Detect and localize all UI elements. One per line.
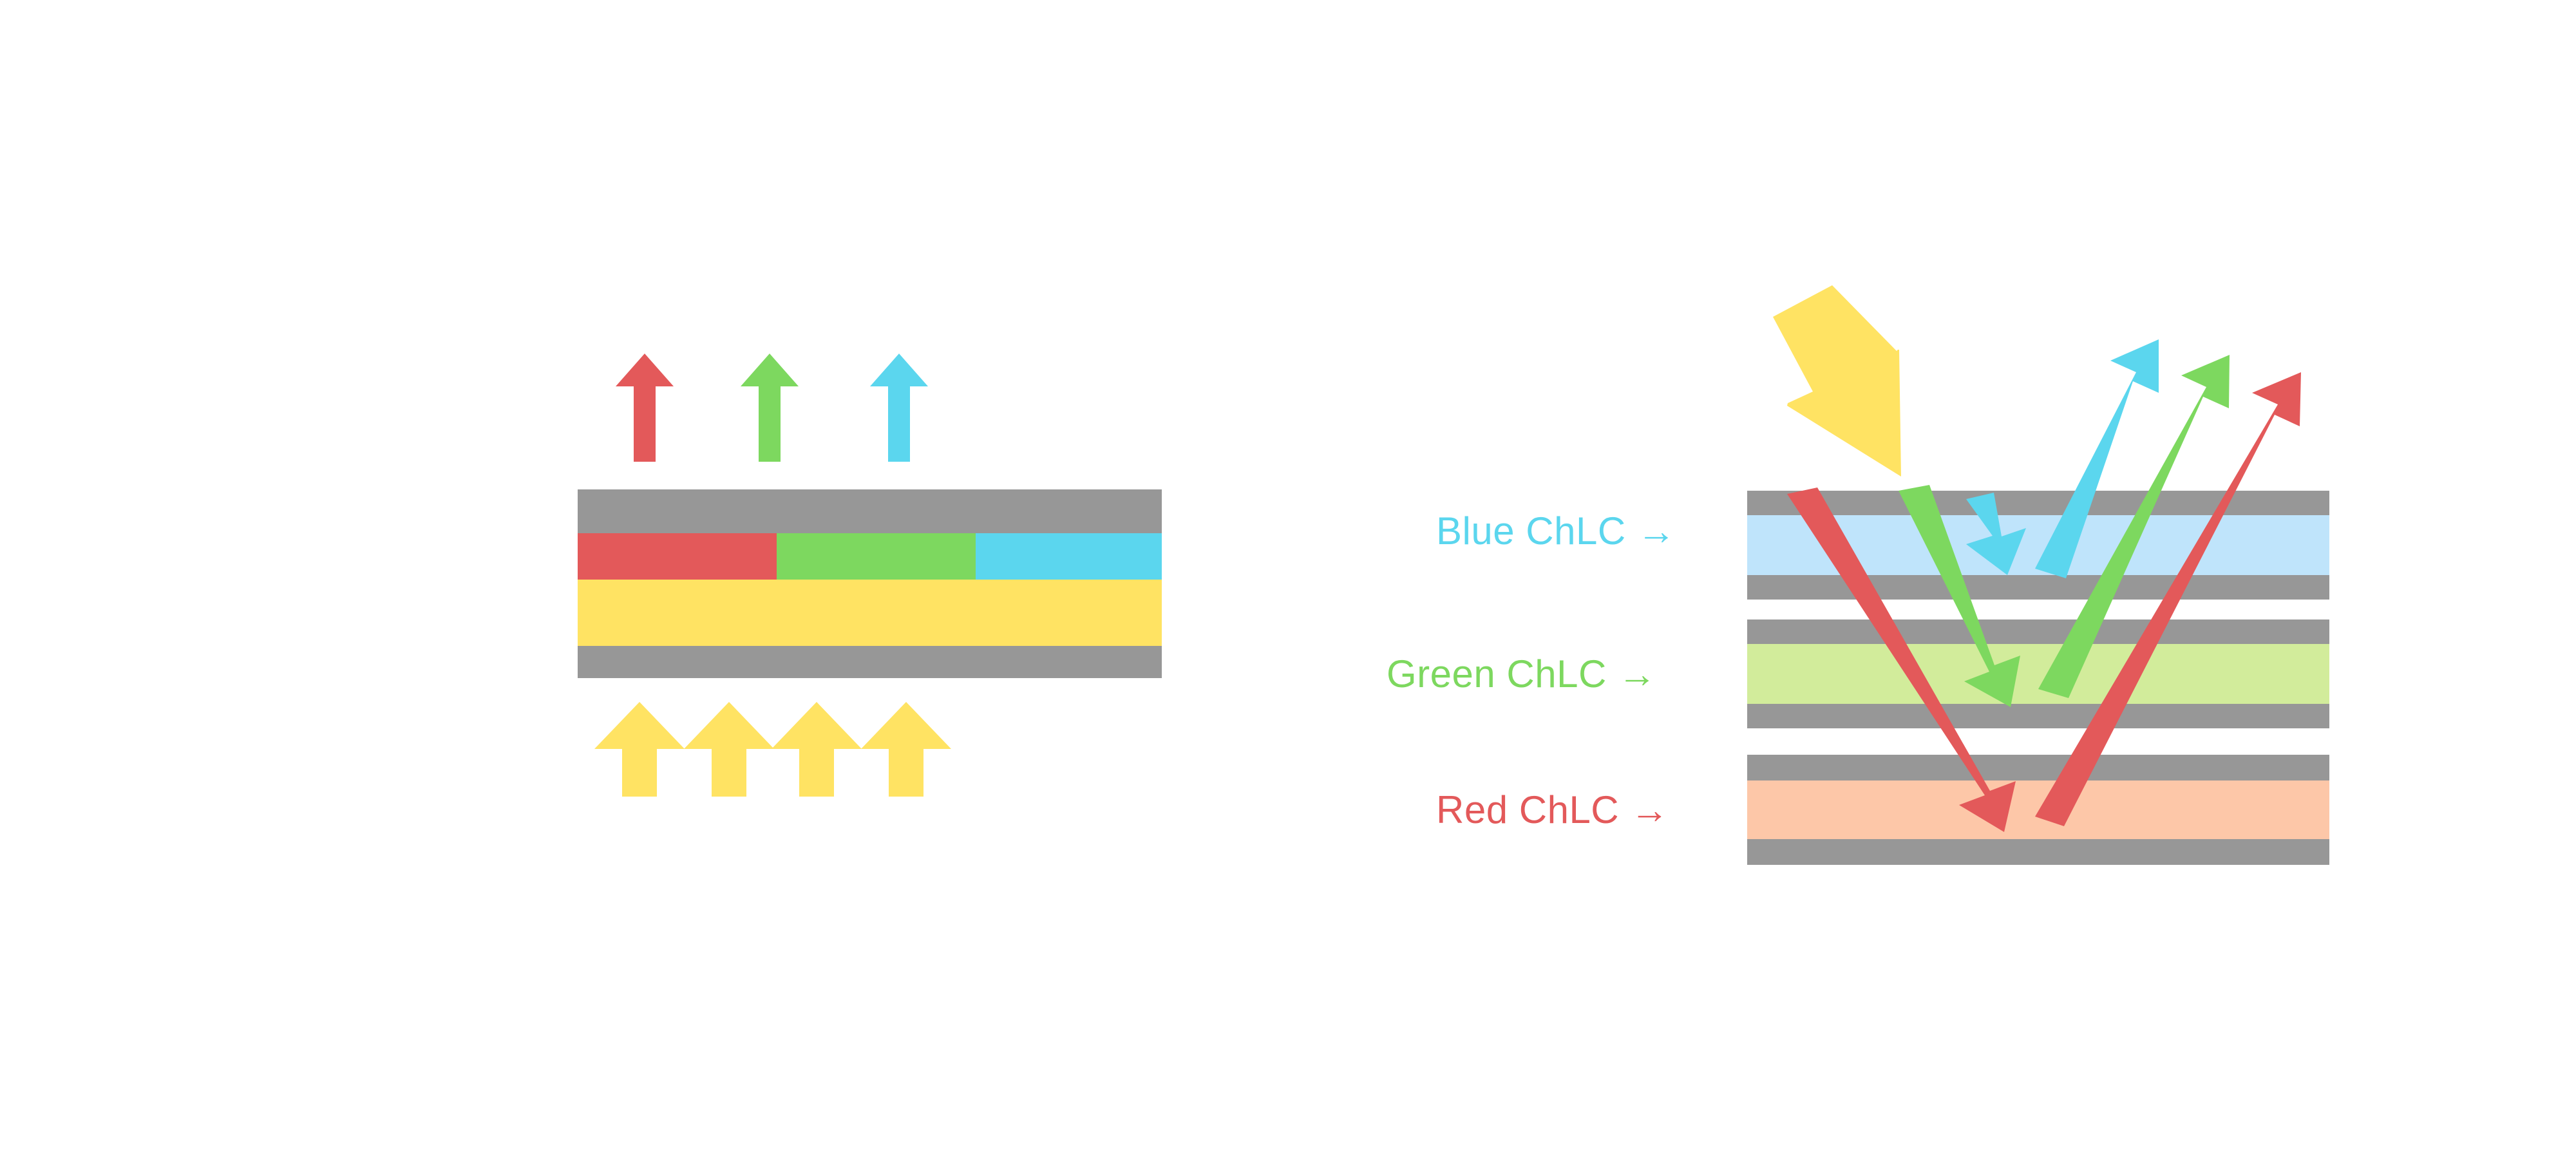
diagram-canvas: Blue ChLC → Green ChLC → Red ChLC → — [0, 0, 2576, 1154]
right-panel-group — [1747, 285, 2329, 865]
backlight-arrow-3 — [772, 702, 862, 797]
red-chlc-bottom-electrode — [1747, 839, 2329, 865]
backlight-arrow-2 — [684, 702, 774, 797]
incident-light-arrow — [1773, 285, 1901, 477]
green-chlc-layer — [1747, 644, 2329, 704]
left-bottom-electrode — [578, 646, 1162, 678]
blue-chlc-bottom-electrode — [1747, 575, 2329, 600]
label-red-chlc-arrow-icon: → — [1630, 788, 1669, 831]
green-chlc-top-electrode — [1747, 620, 2329, 644]
label-green-chlc-arrow-icon: → — [1618, 652, 1657, 695]
label-red-chlc: Red ChLC → — [1436, 791, 1669, 829]
emitted-arrow-green — [741, 354, 799, 462]
label-green-chlc-text: Green ChLC — [1387, 652, 1607, 695]
diagram-svg — [0, 0, 2576, 1154]
left-backlight-layer — [578, 580, 1162, 646]
green-chlc-bottom-electrode — [1747, 704, 2329, 728]
label-blue-chlc-arrow-icon: → — [1637, 509, 1676, 553]
label-blue-chlc-text: Blue ChLC — [1436, 509, 1626, 553]
left-panel-group — [578, 354, 1162, 797]
emitted-arrow-red — [616, 354, 674, 462]
label-blue-chlc: Blue ChLC → — [1436, 512, 1676, 551]
red-chlc-top-electrode — [1747, 755, 2329, 780]
backlight-arrow-4 — [861, 702, 951, 797]
emitted-arrow-cyan — [870, 354, 928, 462]
red-chlc-layer — [1747, 780, 2329, 839]
label-red-chlc-text: Red ChLC — [1436, 788, 1619, 831]
left-filter-green — [777, 533, 976, 580]
backlight-arrow-1 — [594, 702, 685, 797]
blue-chlc-top-electrode — [1747, 491, 2329, 515]
left-filter-red — [578, 533, 777, 580]
label-green-chlc: Green ChLC → — [1387, 655, 1657, 694]
left-filter-cyan — [976, 533, 1162, 580]
left-top-electrode — [578, 489, 1162, 533]
